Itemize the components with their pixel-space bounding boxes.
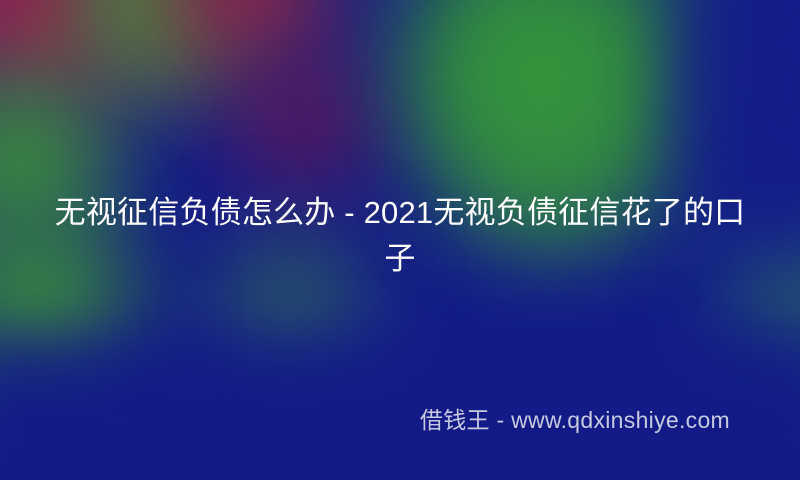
background-blob-magenta-mid — [215, 40, 390, 200]
site-watermark: 借钱王 - www.qdxinshiye.com — [420, 405, 730, 435]
cover-image-canvas: 无视征信负债怎么办 - 2021无视负债征信花了的口子 借钱王 - www.qd… — [0, 0, 800, 480]
cover-title: 无视征信负债怎么办 - 2021无视负债征信花了的口子 — [40, 190, 760, 282]
background-wash-bottom — [0, 300, 800, 480]
